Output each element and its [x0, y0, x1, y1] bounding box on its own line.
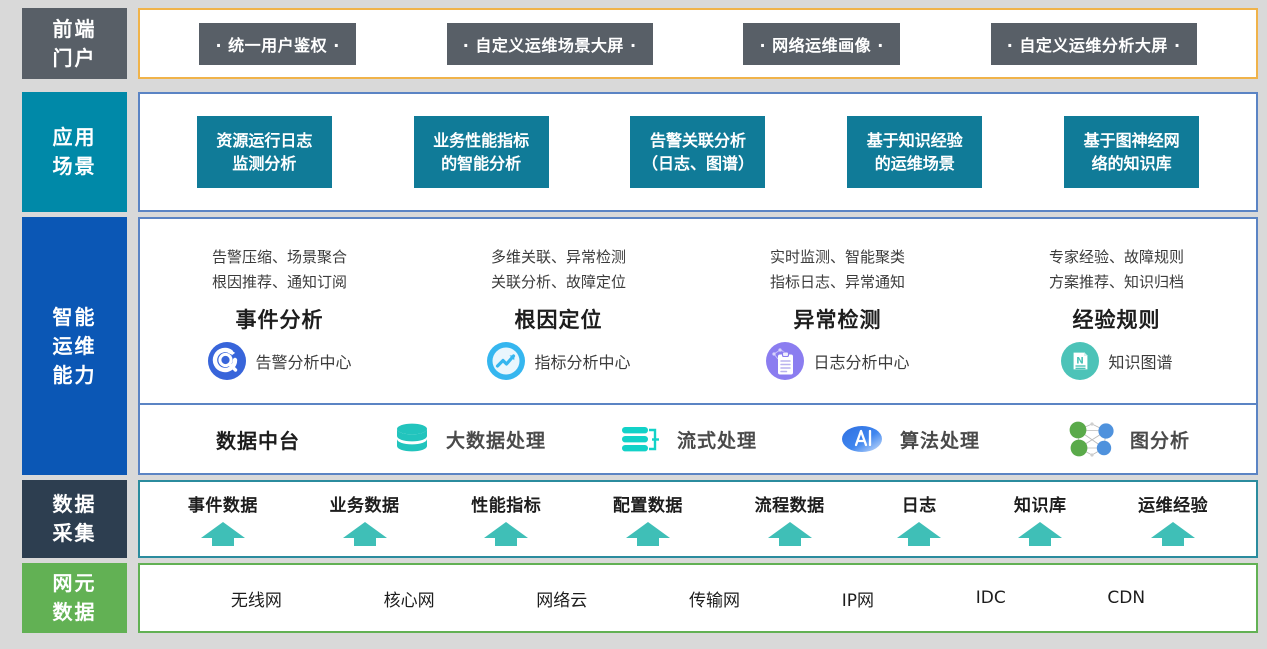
aiops-capabilities-panel: 告警压缩、场景聚合 根因推荐、通知订阅 事件分析 告警分析中心	[138, 217, 1258, 405]
knowledge-doc-icon: N	[1060, 341, 1100, 381]
collection-item-label: 知识库	[1014, 491, 1067, 516]
collection-item-performance-metrics[interactable]: 性能指标	[471, 482, 541, 556]
app-card-line-1: 业务性能指标	[433, 129, 529, 152]
app-card-line-1: 资源运行日志	[216, 129, 312, 152]
graph-network-icon	[1066, 419, 1118, 459]
data-platform-panel: 数据中台 大数据处理	[138, 405, 1258, 475]
capability-feature-line-1: 告警压缩、场景聚合	[212, 245, 347, 270]
data-platform-title: 数据中台	[158, 425, 358, 454]
collection-item-business-data[interactable]: 业务数据	[330, 482, 400, 556]
collection-item-label: 配置数据	[613, 491, 683, 516]
capability-feature-line-2: 关联分析、故障定位	[491, 270, 626, 295]
capability-feature-line-2: 指标日志、异常通知	[770, 270, 905, 295]
capability-root-cause-location[interactable]: 多维关联、异常检测 关联分析、故障定位 根因定位 指标分析中心	[419, 219, 698, 403]
up-arrow-icon	[483, 521, 529, 547]
app-card-graph-neural-network-kb[interactable]: 基于图神经网 络的知识库	[1064, 116, 1199, 188]
side-label-line-1: 智能	[53, 303, 97, 332]
capability-product-label: 知识图谱	[1108, 349, 1172, 373]
data-platform-item-label: 图分析	[1130, 426, 1190, 453]
row-aiops-capability: 智能 运维 能力 告警压缩、场景聚合 根因推荐、通知订阅 事件分析	[22, 217, 1258, 475]
capability-feature-line-1: 专家经验、故障规则	[1049, 245, 1184, 270]
capability-product-label: 指标分析中心	[534, 349, 630, 373]
app-card-line-1: 告警关联分析	[650, 129, 746, 152]
capability-product-label: 告警分析中心	[255, 349, 351, 373]
capability-feature-line-1: 多维关联、异常检测	[491, 245, 626, 270]
ne-item-core-network[interactable]: 核心网	[384, 586, 435, 611]
side-label-line-1: 网元	[53, 569, 97, 598]
architecture-diagram: 前端 门户 · 统一用户鉴权 · · 自定义运维场景大屏 · · 网络运维画像 …	[0, 0, 1267, 649]
alert-search-icon	[207, 341, 247, 381]
capability-title: 经验规则	[1073, 304, 1161, 334]
up-arrow-icon	[200, 521, 246, 547]
collection-item-label: 性能指标	[471, 491, 541, 516]
side-label-line-2: 运维	[53, 332, 97, 361]
side-label-line-1: 前端	[53, 15, 97, 44]
capability-feature-line-2: 根因推荐、通知订阅	[212, 270, 347, 295]
collection-item-label: 事件数据	[188, 491, 258, 516]
metric-trend-icon	[486, 341, 526, 381]
app-card-alarm-correlation-analysis[interactable]: 告警关联分析 （日志、图谱）	[630, 116, 765, 188]
collection-item-label: 日志	[902, 491, 937, 516]
collection-item-ops-experience[interactable]: 运维经验	[1138, 482, 1208, 556]
database-icon	[390, 420, 434, 458]
app-card-line-1: 基于知识经验	[867, 129, 963, 152]
side-label-aiops-capability: 智能 运维 能力	[22, 217, 127, 475]
row-data-collection: 数据 采集 事件数据 业务数据 性能指标	[22, 480, 1258, 558]
log-clipboard-icon	[765, 341, 805, 381]
ne-item-wireless-network[interactable]: 无线网	[231, 586, 282, 611]
up-arrow-icon	[896, 521, 942, 547]
front-portal-panel: · 统一用户鉴权 · · 自定义运维场景大屏 · · 网络运维画像 · · 自定…	[138, 8, 1258, 79]
data-platform-item-stream[interactable]: 流式处理	[578, 420, 798, 458]
side-label-line-2: 采集	[53, 519, 97, 548]
ne-item-transport-network[interactable]: 传输网	[689, 586, 740, 611]
app-card-business-performance-analysis[interactable]: 业务性能指标 的智能分析	[414, 116, 549, 188]
app-card-knowledge-experience-scenario[interactable]: 基于知识经验 的运维场景	[847, 116, 982, 188]
capability-feature-line-2: 方案推荐、知识归档	[1049, 270, 1184, 295]
app-card-line-2: 络的知识库	[1092, 152, 1172, 175]
application-scenarios-panel: 资源运行日志 监测分析 业务性能指标 的智能分析 告警关联分析 （日志、图谱） …	[138, 92, 1258, 212]
capability-product[interactable]: 告警分析中心	[207, 341, 351, 381]
data-platform-item-big-data[interactable]: 大数据处理	[358, 420, 578, 458]
data-platform-item-graph-analysis[interactable]: 图分析	[1018, 419, 1238, 459]
collection-item-event-data[interactable]: 事件数据	[188, 482, 258, 556]
portal-chip-unified-auth[interactable]: · 统一用户鉴权 ·	[199, 23, 355, 65]
ai-icon	[836, 420, 888, 458]
side-label-line-2: 门户	[53, 44, 97, 73]
data-collection-panel: 事件数据 业务数据 性能指标 配置数据	[138, 480, 1258, 558]
row-application-scenarios: 应用 场景 资源运行日志 监测分析 业务性能指标 的智能分析 告警关联分析 （日…	[22, 92, 1258, 212]
capability-feature-line-1: 实时监测、智能聚类	[770, 245, 905, 270]
capability-product[interactable]: N 知识图谱	[1060, 341, 1172, 381]
up-arrow-icon	[625, 521, 671, 547]
up-arrow-icon	[767, 521, 813, 547]
app-card-line-1: 基于图神经网	[1084, 129, 1180, 152]
collection-item-label: 流程数据	[755, 491, 825, 516]
data-platform-item-label: 流式处理	[677, 426, 757, 453]
app-card-resource-log-monitoring[interactable]: 资源运行日志 监测分析	[197, 116, 332, 188]
side-label-network-element-data: 网元 数据	[22, 563, 127, 633]
app-card-line-2: （日志、图谱）	[642, 152, 754, 175]
app-card-line-2: 监测分析	[232, 152, 296, 175]
capability-product-label: 日志分析中心	[813, 349, 909, 373]
stream-icon	[619, 420, 665, 458]
side-label-line-1: 应用	[53, 123, 97, 152]
side-label-data-collection: 数据 采集	[22, 480, 127, 558]
up-arrow-icon	[1017, 521, 1063, 547]
capability-product[interactable]: 指标分析中心	[486, 341, 630, 381]
data-platform-item-label: 算法处理	[900, 426, 980, 453]
capability-product[interactable]: 日志分析中心	[765, 341, 909, 381]
collection-item-process-data[interactable]: 流程数据	[755, 482, 825, 556]
capability-title: 事件分析	[236, 304, 324, 334]
capability-title: 异常检测	[794, 304, 882, 334]
side-label-line-3: 能力	[53, 361, 97, 390]
app-card-line-2: 的智能分析	[441, 152, 521, 175]
side-label-application-scenarios: 应用 场景	[22, 92, 127, 212]
data-platform-item-label: 大数据处理	[446, 426, 546, 453]
capability-experience-rules[interactable]: 专家经验、故障规则 方案推荐、知识归档 经验规则 N 知识图谱	[977, 219, 1256, 403]
network-element-panel: 无线网 核心网 网络云 传输网 IP网 IDC CDN	[138, 563, 1258, 633]
aiops-stack: 告警压缩、场景聚合 根因推荐、通知订阅 事件分析 告警分析中心	[138, 217, 1258, 475]
side-label-line-2: 数据	[53, 598, 97, 627]
ne-item-ip-network[interactable]: IP网	[842, 586, 874, 611]
ne-item-cdn[interactable]: CDN	[1107, 588, 1145, 608]
capability-event-analysis[interactable]: 告警压缩、场景聚合 根因推荐、通知订阅 事件分析 告警分析中心	[140, 219, 419, 403]
portal-chip-custom-analysis-dashboard[interactable]: · 自定义运维分析大屏 ·	[991, 23, 1197, 65]
up-arrow-icon	[342, 521, 388, 547]
collection-item-label: 运维经验	[1138, 491, 1208, 516]
row-network-element-data: 网元 数据 无线网 核心网 网络云 传输网 IP网 IDC CDN	[22, 563, 1258, 633]
side-label-line-1: 数据	[53, 490, 97, 519]
collection-item-config-data[interactable]: 配置数据	[613, 482, 683, 556]
capability-title: 根因定位	[515, 304, 603, 334]
capability-anomaly-detection[interactable]: 实时监测、智能聚类 指标日志、异常通知 异常检测	[698, 219, 977, 403]
collection-item-knowledge-base[interactable]: 知识库	[1014, 482, 1067, 556]
up-arrow-icon	[1150, 521, 1196, 547]
svg-text:N: N	[1077, 356, 1085, 366]
portal-chip-network-ops-profile[interactable]: · 网络运维画像 ·	[743, 23, 899, 65]
collection-item-logs[interactable]: 日志	[896, 482, 942, 556]
app-card-line-2: 的运维场景	[875, 152, 955, 175]
collection-item-label: 业务数据	[330, 491, 400, 516]
ne-item-idc[interactable]: IDC	[976, 588, 1006, 608]
ne-item-network-cloud[interactable]: 网络云	[536, 586, 587, 611]
portal-chip-custom-ops-dashboard[interactable]: · 自定义运维场景大屏 ·	[447, 23, 653, 65]
row-front-portal: 前端 门户 · 统一用户鉴权 · · 自定义运维场景大屏 · · 网络运维画像 …	[22, 8, 1258, 79]
side-label-line-2: 场景	[53, 152, 97, 181]
side-label-front-portal: 前端 门户	[22, 8, 127, 79]
data-platform-item-algorithm[interactable]: 算法处理	[798, 420, 1018, 458]
